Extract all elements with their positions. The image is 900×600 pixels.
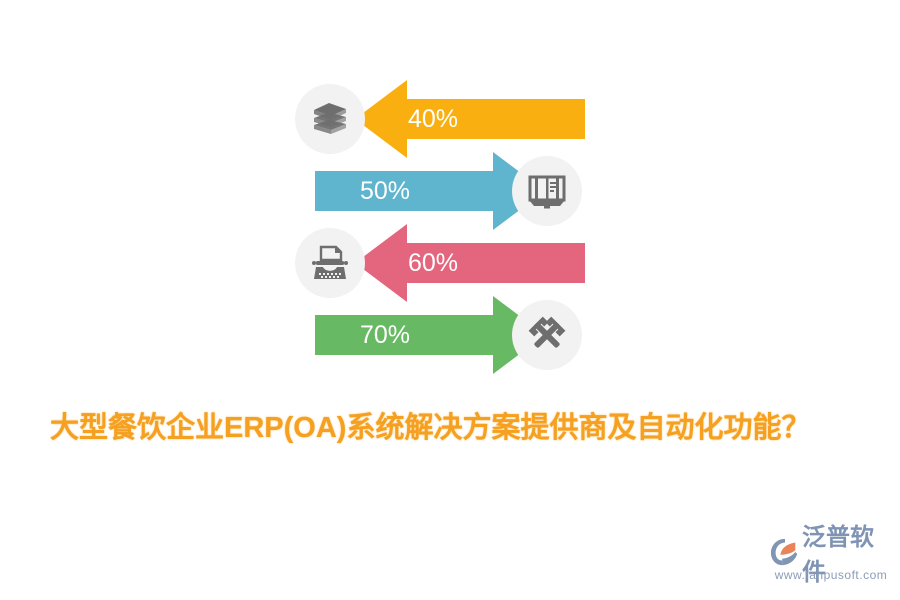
arrow-shape: [355, 224, 585, 302]
page-title: 大型餐饮企业ERP(OA)系统解决方案提供商及自动化功能？: [50, 404, 860, 446]
logo-website-url: www.fanpusoft.com: [770, 568, 892, 582]
crossed-hammers-icon: [512, 300, 582, 370]
diagram-row: 40%: [280, 80, 620, 158]
diagram-row: 70%: [280, 296, 620, 374]
logo-row: 泛普软件: [770, 536, 892, 568]
arrow-polygon: [355, 224, 585, 302]
open-book-icon: [512, 156, 582, 226]
arrow-shape: [355, 80, 585, 158]
infographic-canvas: 40%: [0, 0, 900, 600]
arrow-shape: [315, 152, 545, 230]
arrow-polygon: [315, 296, 545, 374]
books-stack-icon: [295, 84, 365, 154]
arrow-polygon: [315, 152, 545, 230]
arrow-diagram: 40%: [280, 80, 620, 400]
typewriter-icon: [295, 228, 365, 298]
arrow-polygon: [355, 80, 585, 158]
diagram-row: 50%: [280, 152, 620, 230]
brand-logo: 泛普软件 www.fanpusoft.com: [770, 536, 892, 586]
diagram-row: 60%: [280, 224, 620, 302]
arrow-shape: [315, 296, 545, 374]
fanpu-swoosh-icon: [770, 537, 800, 567]
